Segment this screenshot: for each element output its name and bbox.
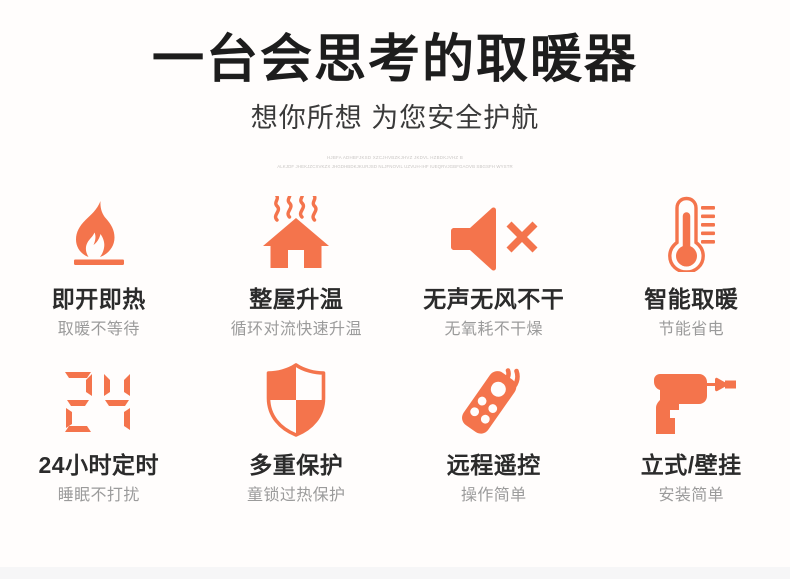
feature-subtitle: 睡眠不打扰: [58, 487, 140, 505]
feature-title: 智能取暖: [644, 286, 738, 312]
power-drill-icon: [645, 362, 737, 438]
feature-subtitle: 取暖不等待: [58, 321, 140, 339]
feature-title: 立式/壁挂: [641, 452, 742, 478]
feature-item-smart-heating: 智能取暖 节能省电: [593, 196, 790, 340]
feature-item-24h-timer: 24小时定时 睡眠不打扰: [0, 362, 198, 506]
feature-title: 即开即热: [52, 286, 146, 312]
banner-header: 一台会思考的取暖器 想你所想 为您安全护航 HJBFA ADHBFJKSD XZ…: [0, 0, 790, 171]
remote-control-icon: [454, 362, 534, 438]
digital-24-icon: [59, 362, 139, 438]
feature-subtitle: 节能省电: [658, 321, 724, 339]
thermometer-icon: [662, 196, 720, 272]
heated-house-icon: [257, 196, 335, 272]
page-title: 一台会思考的取暖器: [0, 0, 790, 88]
filler-line-1: HJBFA ADHBFJKSD XZCJHVBZKJHVZ JKDVL HZBD…: [160, 153, 630, 162]
feature-subtitle: 安装简单: [658, 487, 724, 505]
feature-title: 24小时定时: [38, 452, 159, 478]
feature-item-silent-no-wind: 无声无风不干 无氧耗不干燥: [395, 196, 593, 340]
feature-subtitle: 无氧耗不干燥: [445, 321, 543, 339]
feature-subtitle: 循环对流快速升温: [231, 321, 362, 339]
decorative-filler-text: HJBFA ADHBFJKSD XZCJHVBZKJHVZ JKDVL HZBD…: [160, 135, 630, 171]
bottom-divider: [0, 567, 790, 579]
muted-speaker-icon: [448, 196, 540, 272]
filler-line-2: ALKJDF JHEKJZCXVKZX JHGDHBDKJKURJSD NLJF…: [160, 162, 630, 171]
feature-title: 整屋升温: [249, 286, 343, 312]
feature-item-floor-or-wall-mount: 立式/壁挂 安装简单: [593, 362, 790, 506]
feature-item-remote-control: 远程遥控 操作简单: [395, 362, 593, 506]
feature-subtitle: 童锁过热保护: [247, 487, 345, 505]
feature-item-whole-room-heating: 整屋升温 循环对流快速升温: [198, 196, 396, 340]
feature-subtitle: 操作简单: [461, 487, 527, 505]
feature-title: 无声无风不干: [423, 286, 564, 312]
feature-grid: 即开即热 取暖不等待 整屋升温 循环对流快速升温: [0, 196, 790, 506]
feature-title: 多重保护: [249, 452, 343, 478]
shield-icon: [263, 362, 329, 438]
feature-item-multi-protection: 多重保护 童锁过热保护: [198, 362, 396, 506]
feature-item-instant-heat: 即开即热 取暖不等待: [0, 196, 198, 340]
flame-icon: [67, 196, 131, 272]
page-subtitle: 想你所想 为您安全护航: [0, 88, 790, 134]
feature-banner-page: 一台会思考的取暖器 想你所想 为您安全护航 HJBFA ADHBFJKSD XZ…: [0, 0, 790, 579]
feature-title: 远程遥控: [447, 452, 541, 478]
